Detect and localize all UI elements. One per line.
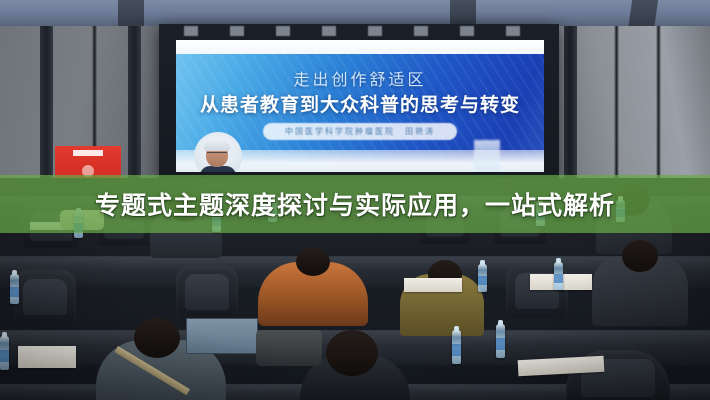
slide-presenter-label: 中国医学科学院肿瘤医院 田艳涛 <box>263 123 457 140</box>
paper-sheet <box>18 346 76 368</box>
attendee-head <box>134 318 180 358</box>
slide-subtitle: 从患者教育到大众科普的思考与转变 <box>176 90 544 117</box>
glasses-icon <box>207 152 227 158</box>
slide-decoration <box>474 140 500 170</box>
water-bottle <box>554 262 563 290</box>
chair <box>176 266 238 318</box>
chair <box>14 270 76 324</box>
screenshot-root: 走出创作舒适区 从患者教育到大众科普的思考与转变 中国医学科学院肿瘤医院 田艳涛 <box>0 0 710 400</box>
speaker-portrait-avatar <box>194 132 242 172</box>
water-bottle <box>496 324 505 358</box>
paper-sheet <box>404 278 462 292</box>
attendee-head <box>622 240 658 272</box>
caption-text: 专题式主题深度探讨与实际应用，一站式解析 <box>0 175 710 233</box>
poster-headline <box>73 150 103 156</box>
slide-title: 走出创作舒适区 <box>176 66 544 90</box>
water-bottle <box>452 330 461 364</box>
water-bottle <box>10 274 19 304</box>
water-bottle <box>478 264 487 292</box>
bag <box>256 330 322 366</box>
water-bottle <box>0 336 9 370</box>
laptop <box>186 318 258 354</box>
presentation-slide: 走出创作舒适区 从患者教育到大众科普的思考与转变 中国医学科学院肿瘤医院 田艳涛 <box>176 40 544 172</box>
attendee-head <box>326 330 378 376</box>
attendee-head <box>296 248 330 276</box>
screen-light-reflections <box>168 26 550 36</box>
slide-top-strip <box>176 40 544 54</box>
